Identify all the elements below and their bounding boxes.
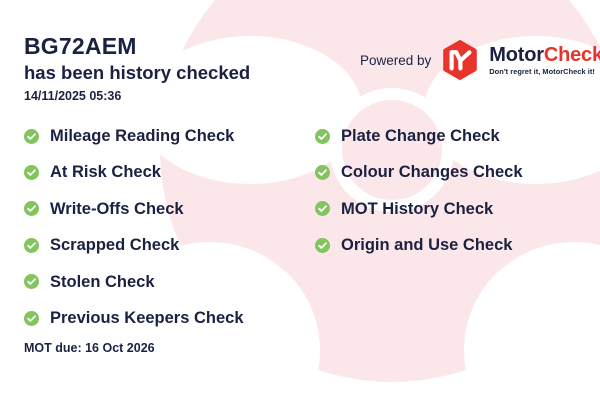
list-item: Plate Change Check	[315, 118, 600, 154]
check-circle-icon	[24, 311, 39, 326]
check-circle-icon	[315, 238, 330, 253]
check-label: MOT History Check	[341, 201, 493, 218]
check-circle-icon	[315, 129, 330, 144]
motorcheck-tagline: Don't regret it, MotorCheck it!	[489, 68, 600, 75]
checks-right-column: Plate Change Check Colour Changes Check	[315, 118, 600, 264]
check-label: Plate Change Check	[341, 128, 500, 145]
list-item: Mileage Reading Check	[24, 118, 314, 154]
check-circle-icon	[24, 274, 39, 289]
checks-left-column: Mileage Reading Check At Risk Check	[24, 118, 314, 336]
list-item: MOT History Check	[315, 191, 600, 227]
motorcheck-wordmark: MotorCheck Don't regret it, MotorCheck i…	[489, 45, 600, 75]
list-item: Origin and Use Check	[315, 227, 600, 263]
list-item: Colour Changes Check	[315, 154, 600, 190]
check-label: Previous Keepers Check	[50, 310, 244, 327]
motorcheck-logo-lockup[interactable]: Powered by MotorCheck Don't regret it, M…	[360, 40, 600, 80]
list-item: At Risk Check	[24, 154, 314, 190]
powered-by-label: Powered by	[360, 53, 431, 68]
page-subtitle: has been history checked	[24, 62, 250, 84]
check-circle-icon	[315, 165, 330, 180]
list-item: Stolen Check	[24, 264, 314, 300]
check-label: Origin and Use Check	[341, 237, 512, 254]
check-label: Stolen Check	[50, 274, 155, 291]
list-item: Scrapped Check	[24, 227, 314, 263]
wordmark-check: Check	[544, 44, 600, 66]
history-check-card: BG72AEM has been history checked 14/11/2…	[0, 0, 600, 400]
wordmark-motor: Motor	[489, 44, 544, 66]
card-header: BG72AEM has been history checked 14/11/2…	[24, 34, 250, 103]
check-circle-icon	[315, 201, 330, 216]
check-label: At Risk Check	[50, 164, 161, 181]
list-item: Previous Keepers Check	[24, 300, 314, 336]
check-circle-icon	[24, 238, 39, 253]
check-timestamp: 14/11/2025 05:36	[24, 89, 250, 103]
check-label: Write-Offs Check	[50, 201, 184, 218]
check-label: Mileage Reading Check	[50, 128, 234, 145]
check-label: Colour Changes Check	[341, 164, 523, 181]
check-label: Scrapped Check	[50, 237, 179, 254]
check-circle-icon	[24, 201, 39, 216]
mot-due-note: MOT due: 16 Oct 2026	[24, 341, 155, 355]
check-circle-icon	[24, 129, 39, 144]
check-circle-icon	[24, 165, 39, 180]
motorcheck-hexagon-icon	[440, 40, 480, 80]
list-item: Write-Offs Check	[24, 191, 314, 227]
plate-number: BG72AEM	[24, 34, 250, 60]
